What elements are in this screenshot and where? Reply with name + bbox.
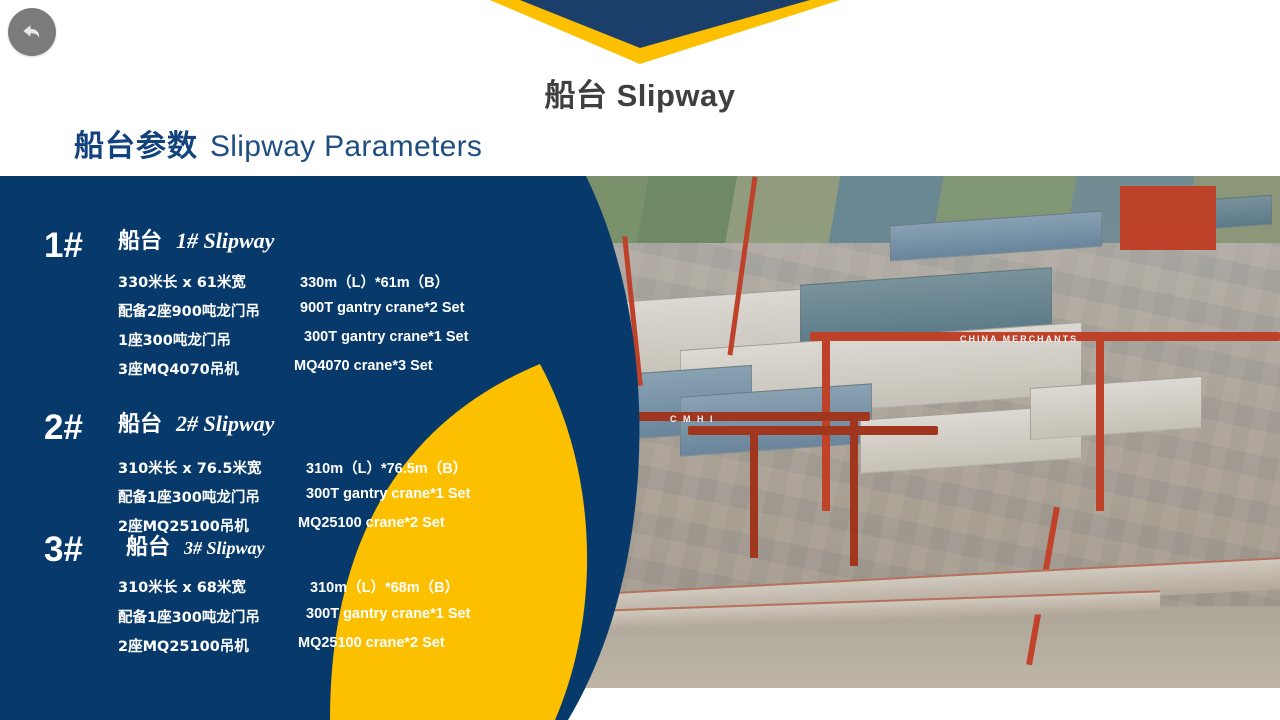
slipway-title-cn: 船台	[118, 229, 162, 254]
slipway-title-cn: 船台	[118, 412, 162, 437]
spec-cn: 2座MQ25100吊机	[118, 635, 300, 656]
spec-en: 310m（L）*76.5m（B）	[306, 457, 467, 478]
spec-en: 310m（L）*68m（B）	[310, 576, 459, 597]
spec-row: 配备2座900吨龙门吊 900T gantry crane*2 Set	[118, 300, 464, 321]
spec-en: 900T gantry crane*2 Set	[300, 300, 464, 321]
spec-en: MQ25100 crane*2 Set	[298, 515, 445, 536]
spec-row: 310米长 x 68米宽 310m（L）*68m（B）	[118, 576, 459, 597]
spec-en: 300T gantry crane*1 Set	[306, 486, 470, 507]
slipway-title-en: 3# Slipway	[184, 538, 265, 558]
page-title-cn: 船台	[544, 78, 607, 114]
spec-en: 330m（L）*61m（B）	[300, 271, 449, 292]
spec-row: 310米长 x 76.5米宽 310m（L）*76.5m（B）	[118, 457, 467, 478]
spec-en: 300T gantry crane*1 Set	[304, 329, 468, 350]
slide-canvas: CHINA MERCHANTS C M H I	[0, 0, 1280, 720]
spec-cn: 配备1座300吨龙门吊	[118, 486, 300, 507]
slipway-title-1: 船台1# Slipway	[118, 230, 274, 253]
slipway-number-1: 1#	[44, 228, 83, 263]
spec-row: 配备1座300吨龙门吊 300T gantry crane*1 Set	[118, 486, 470, 507]
spec-cn: 1座300吨龙门吊	[118, 329, 300, 350]
spec-row: 2座MQ25100吊机 MQ25100 crane*2 Set	[118, 515, 445, 536]
spec-en: MQ25100 crane*2 Set	[298, 635, 445, 656]
spec-en: MQ4070 crane*3 Set	[294, 358, 433, 379]
section-heading-cn: 船台参数	[74, 129, 198, 164]
spec-cn: 2座MQ25100吊机	[118, 515, 300, 536]
slipway-title-en: 2# Slipway	[176, 411, 274, 436]
slipway-title-en: 1# Slipway	[176, 228, 274, 253]
section-heading-en: Slipway Parameters	[210, 130, 482, 163]
spec-row: 1座300吨龙门吊 300T gantry crane*1 Set	[118, 329, 468, 350]
spec-row: 330米长 x 61米宽 330m（L）*61m（B）	[118, 271, 449, 292]
slipway-number-3: 3#	[44, 532, 83, 567]
spec-cn: 310米长 x 76.5米宽	[118, 457, 300, 478]
back-button[interactable]	[8, 8, 56, 56]
top-chevron-decoration	[0, 0, 1280, 70]
slipway-list: 1# 船台1# Slipway 330米长 x 61米宽 330m（L）*61m…	[0, 176, 560, 720]
back-arrow-icon	[19, 19, 45, 45]
spec-cn: 330米长 x 61米宽	[118, 271, 300, 292]
spec-row: 3座MQ4070吊机 MQ4070 crane*3 Set	[118, 358, 433, 379]
spec-cn: 3座MQ4070吊机	[118, 358, 300, 379]
spec-row: 配备1座300吨龙门吊 300T gantry crane*1 Set	[118, 606, 470, 627]
spec-row: 2座MQ25100吊机 MQ25100 crane*2 Set	[118, 635, 445, 656]
page-title-en: Slipway	[617, 78, 736, 113]
slipway-title-cn: 船台	[126, 535, 170, 560]
spec-en: 300T gantry crane*1 Set	[306, 606, 470, 627]
slipway-number-2: 2#	[44, 410, 83, 445]
spec-cn: 配备1座300吨龙门吊	[118, 606, 300, 627]
spec-cn: 310米长 x 68米宽	[118, 576, 300, 597]
spec-cn: 配备2座900吨龙门吊	[118, 300, 300, 321]
section-heading: 船台参数Slipway Parameters	[74, 121, 482, 165]
slipway-title-3: 船台3# Slipway	[126, 537, 265, 559]
page-title: 船台 Slipway	[0, 70, 1280, 115]
slipway-title-2: 船台2# Slipway	[118, 413, 274, 436]
